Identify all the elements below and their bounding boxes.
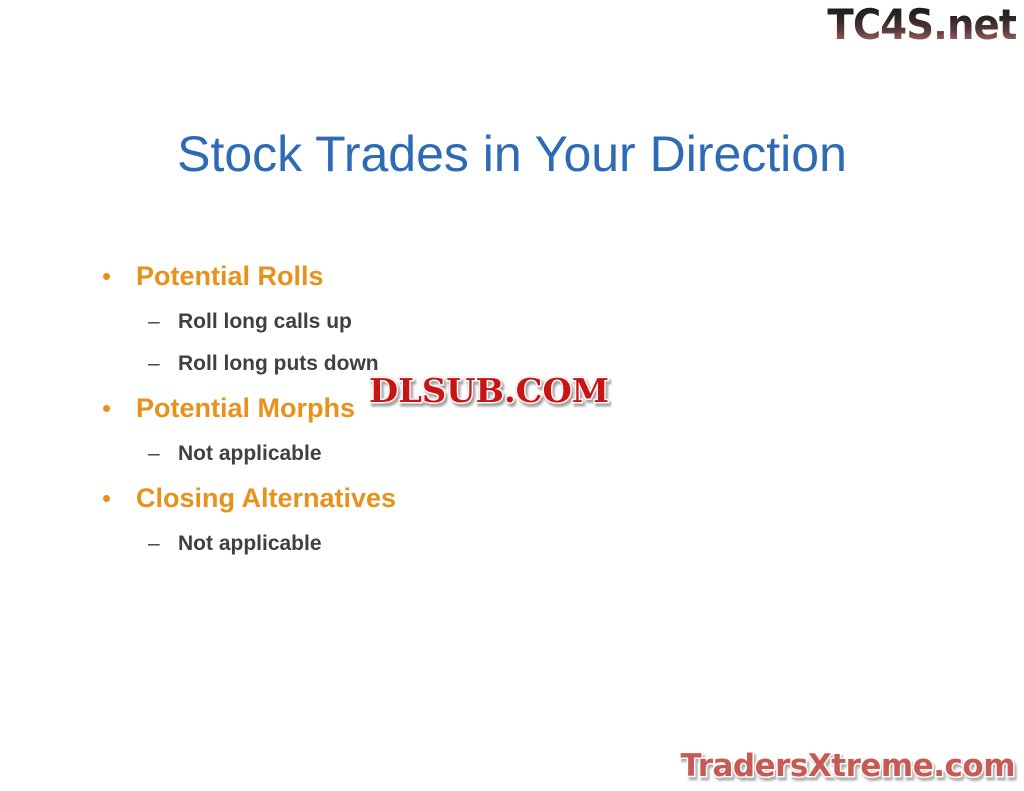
list-item-label: Potential Morphs xyxy=(136,385,355,431)
presentation-slide: TC4S.net Stock Trades in Your Direction … xyxy=(0,0,1024,791)
list-item: – Not applicable xyxy=(96,433,936,475)
list-item-label: Not applicable xyxy=(178,433,322,475)
list-item: – Not applicable xyxy=(96,523,936,565)
bullet-marker-icon: • xyxy=(96,385,136,431)
dash-marker-icon: – xyxy=(96,343,178,385)
list-item: – Roll long calls up xyxy=(96,301,936,343)
list-item: • Potential Rolls xyxy=(96,253,936,299)
page-title: Stock Trades in Your Direction xyxy=(0,124,1024,184)
dash-marker-icon: – xyxy=(96,301,178,343)
list-item-label: Roll long puts down xyxy=(178,343,379,385)
list-item: • Closing Alternatives xyxy=(96,475,936,521)
brand-logo: TC4S.net xyxy=(827,2,1016,48)
list-item-label: Closing Alternatives xyxy=(136,475,396,521)
list-item-label: Potential Rolls xyxy=(136,253,324,299)
watermark-dlsub-text: DLSUB.COM xyxy=(369,371,609,410)
dash-marker-icon: – xyxy=(96,523,178,565)
bullet-marker-icon: • xyxy=(96,253,136,299)
watermark-dlsub: DLSUB.COM xyxy=(369,371,609,411)
list-item-label: Not applicable xyxy=(178,523,322,565)
list-item-label: Roll long calls up xyxy=(178,301,352,343)
watermark-tradersxtreme: TradersXtreme.com xyxy=(680,747,1015,785)
dash-marker-icon: – xyxy=(96,433,178,475)
bullet-marker-icon: • xyxy=(96,475,136,521)
